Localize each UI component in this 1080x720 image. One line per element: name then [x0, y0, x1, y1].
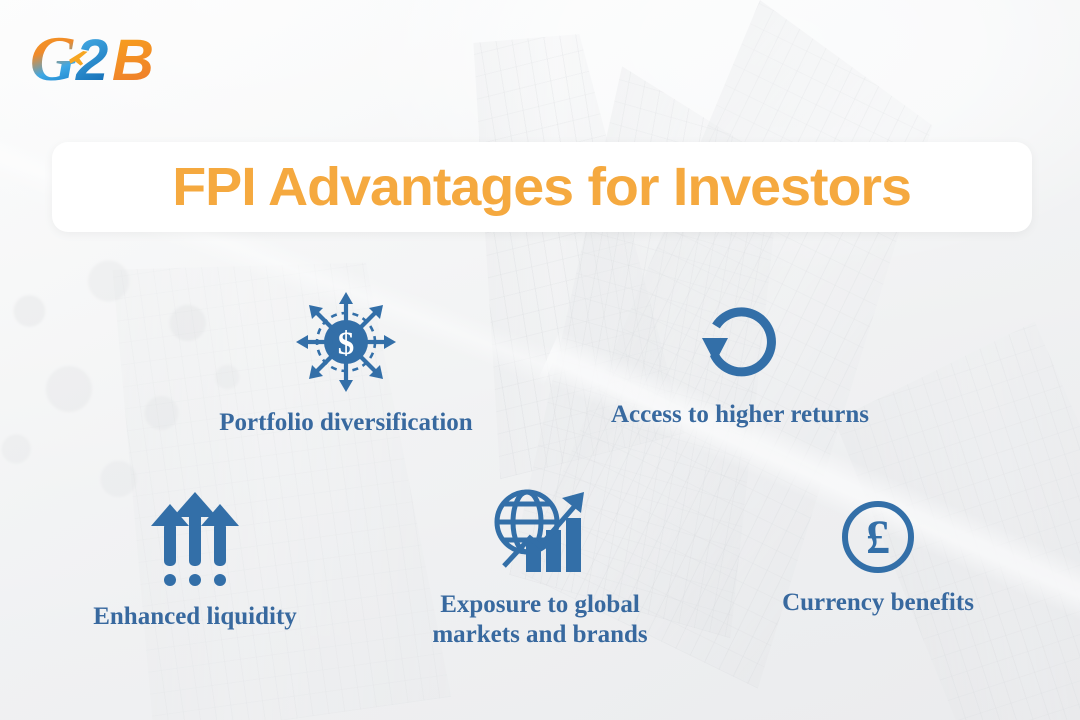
feature-label: Enhanced liquidity: [93, 602, 297, 632]
feature-access-to-higher-returns[interactable]: Access to higher returns: [600, 296, 880, 430]
three-up-arrows-icon: [142, 490, 248, 590]
dollar-diversification-icon: $: [292, 288, 400, 396]
infographic-canvas: G 2 B FPI Advantages for Investors $: [0, 0, 1080, 720]
svg-text:B: B: [112, 28, 154, 93]
pound-circle-icon: £: [839, 498, 917, 576]
icon-wrap: $: [292, 288, 400, 396]
feature-label: Exposure to global markets and brands: [432, 590, 647, 649]
globe-bar-chart-icon: [488, 484, 592, 578]
feature-enhanced-liquidity[interactable]: Enhanced liquidity: [60, 490, 330, 632]
feature-currency-benefits[interactable]: £ Currency benefits: [760, 498, 996, 618]
g2b-logo[interactable]: G 2 B: [28, 22, 188, 94]
svg-text:G: G: [30, 23, 76, 94]
icon-wrap: [694, 296, 786, 388]
icon-wrap: [488, 484, 592, 578]
feature-label: Currency benefits: [782, 588, 974, 618]
circular-arrow-icon: [694, 296, 786, 388]
svg-text:£: £: [866, 511, 890, 564]
feature-exposure-to-global-markets[interactable]: Exposure to global markets and brands: [410, 484, 670, 649]
icon-wrap: £: [839, 498, 917, 576]
page-title: FPI Advantages for Investors: [173, 156, 912, 218]
g2b-logo-mark: G 2 B: [28, 22, 188, 94]
feature-label: Access to higher returns: [611, 400, 869, 430]
feature-portfolio-diversification[interactable]: $: [206, 288, 486, 438]
title-banner: FPI Advantages for Investors: [52, 142, 1032, 232]
feature-label: Portfolio diversification: [219, 408, 472, 438]
icon-wrap: [142, 490, 248, 590]
